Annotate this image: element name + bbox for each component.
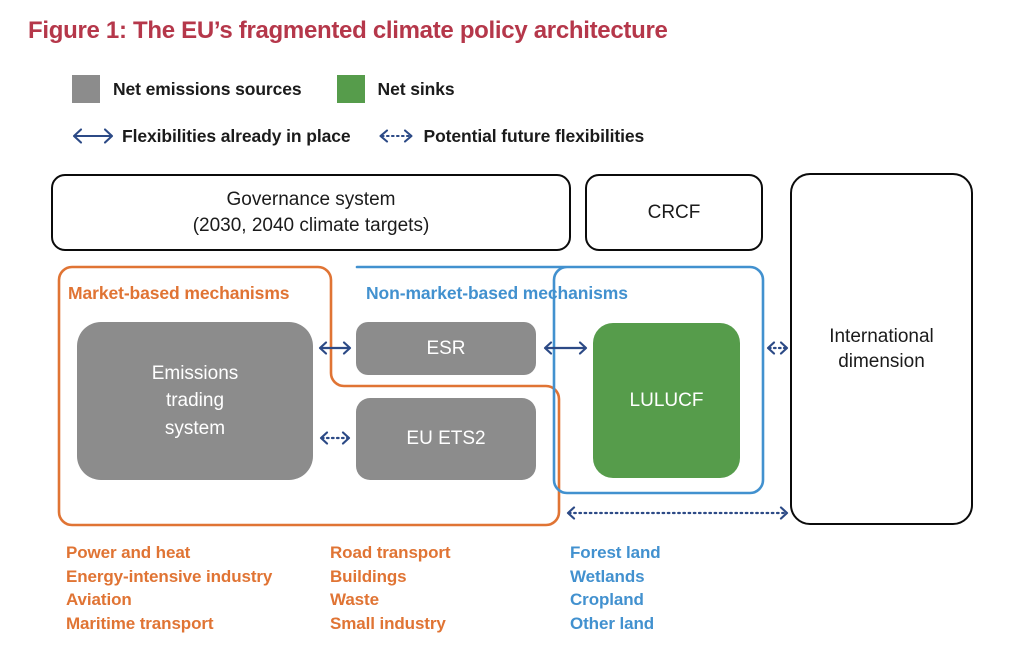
sector-column-ets2: Road transport Buildings Waste Small ind…	[330, 541, 450, 635]
arrow-ets-ets2-dotted	[321, 433, 349, 444]
sector-item: Forest land	[570, 541, 661, 565]
sector-item: Wetlands	[570, 565, 661, 589]
diagram-canvas: Market-based mechanisms Non-market-based…	[0, 0, 1024, 663]
sector-column-ets: Power and heat Energy-intensive industry…	[66, 541, 272, 635]
sector-item: Buildings	[330, 565, 450, 589]
sector-column-lulucf: Forest land Wetlands Cropland Other land	[570, 541, 661, 635]
sector-item: Waste	[330, 588, 450, 612]
arrow-lulucf-international-dotted	[768, 343, 787, 354]
sector-item: Road transport	[330, 541, 450, 565]
arrow-market-international-dotted	[568, 508, 787, 519]
arrow-ets-esr-solid	[320, 343, 350, 354]
sector-item: Power and heat	[66, 541, 272, 565]
sector-item: Maritime transport	[66, 612, 272, 636]
arrow-esr-lulucf-solid	[545, 343, 586, 354]
sector-item: Energy-intensive industry	[66, 565, 272, 589]
sector-item: Cropland	[570, 588, 661, 612]
sector-item: Small industry	[330, 612, 450, 636]
sector-item: Other land	[570, 612, 661, 636]
sector-item: Aviation	[66, 588, 272, 612]
